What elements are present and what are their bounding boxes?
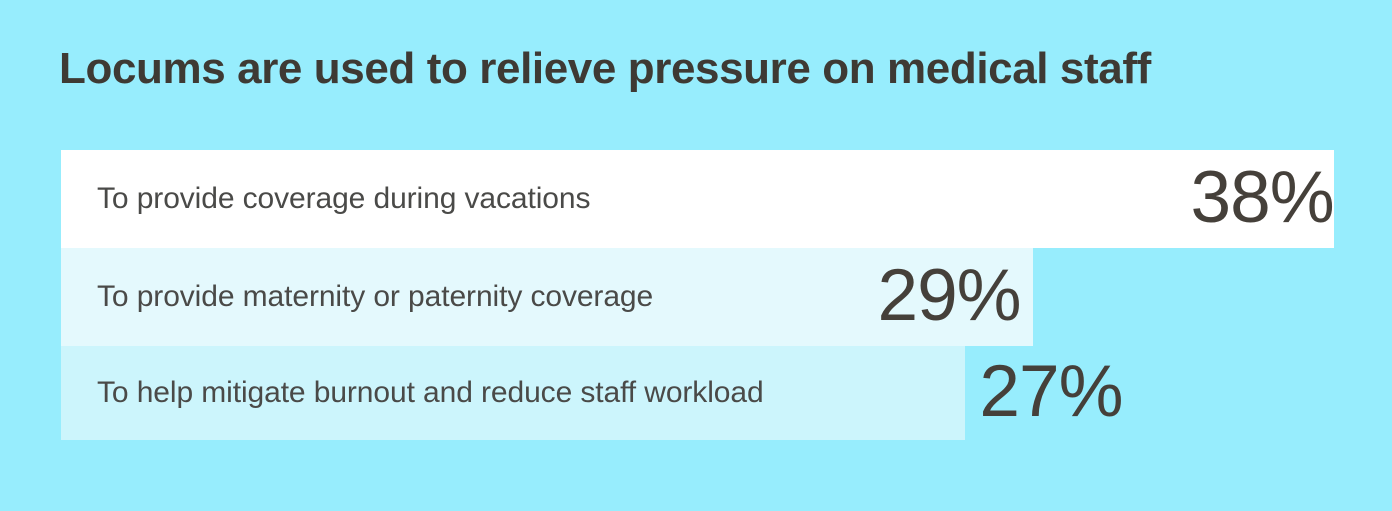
bar-row: To provide maternity or paternity covera… [61, 248, 1353, 346]
bar-label: To provide maternity or paternity covera… [61, 282, 653, 312]
bar-label: To provide coverage during vacations [61, 184, 590, 214]
bar-fill-vacations: To provide coverage during vacations [61, 150, 1334, 248]
bar-row: To help mitigate burnout and reduce staf… [61, 346, 1353, 440]
bar-value: 38% [1191, 161, 1334, 234]
bar-label: To help mitigate burnout and reduce staf… [61, 378, 764, 408]
bar-chart-plot-area: To provide coverage during vacations 38%… [61, 150, 1353, 440]
bar-fill-burnout-workload: To help mitigate burnout and reduce staf… [61, 346, 965, 440]
bar-fill-maternity-paternity: To provide maternity or paternity covera… [61, 248, 1033, 346]
page-title: Locums are used to relieve pressure on m… [59, 44, 1151, 95]
bar-row: To provide coverage during vacations 38% [61, 150, 1353, 248]
bar-value: 29% [877, 259, 1020, 332]
bar-value: 27% [979, 355, 1122, 428]
infographic-chart: Locums are used to relieve pressure on m… [0, 0, 1392, 511]
